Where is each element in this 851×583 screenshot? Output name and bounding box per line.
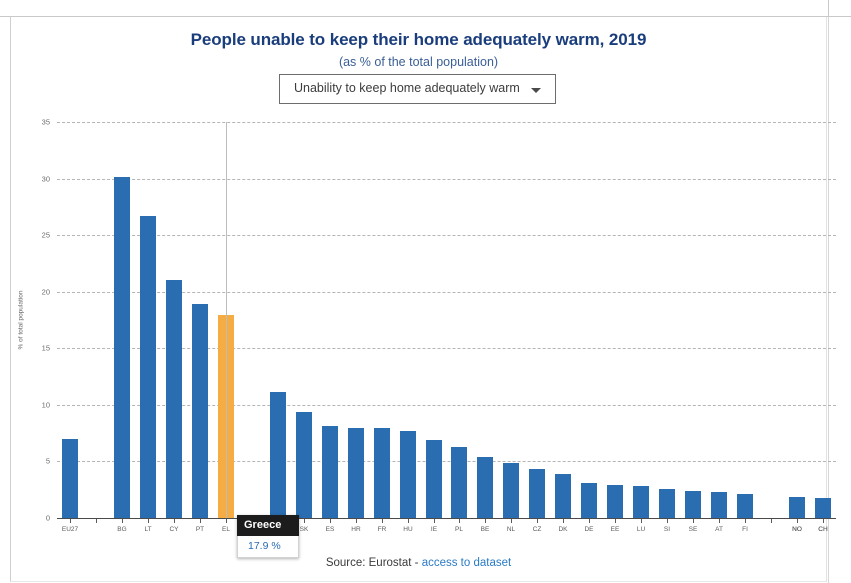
x-axis-tick-label: CZ (533, 526, 542, 533)
y-axis-tick-label: 30 (42, 174, 50, 183)
bar-lt[interactable] (140, 216, 156, 518)
source-prefix: Source: Eurostat - (326, 557, 422, 569)
x-axis-tick-label: DE (584, 526, 593, 533)
bar-dk[interactable] (555, 474, 571, 518)
gridline (57, 122, 836, 123)
x-axis-tick-label: SE (689, 526, 698, 533)
bar-bg[interactable] (114, 177, 130, 518)
x-axis-tick-label: NO (792, 526, 802, 533)
indicator-select[interactable]: Unability to keep home adequately warm (279, 74, 556, 104)
x-axis-tick-label: NL (507, 526, 515, 533)
x-axis-tick-label: AT (715, 526, 723, 533)
page-title: People unable to keep their home adequat… (11, 30, 826, 50)
x-axis-tick-label: ES (326, 526, 335, 533)
bar-at[interactable] (711, 492, 727, 518)
x-axis-tick-label: CY (169, 526, 178, 533)
x-axis-tick-label: EU27 (62, 526, 78, 533)
y-axis-tick-label: 0 (46, 514, 50, 523)
chart-tooltip: Greece 17.9 % (237, 515, 299, 558)
x-axis-tick-label: IE (431, 526, 437, 533)
x-axis-tick-label: PT (196, 526, 204, 533)
page-chrome-right-rule (828, 0, 829, 17)
x-axis-tick-label: LU (637, 526, 645, 533)
bar-pl[interactable] (451, 447, 467, 518)
bar-fi[interactable] (737, 494, 753, 518)
bar-ie[interactable] (426, 440, 442, 518)
bar-no[interactable] (789, 506, 805, 518)
bar-be[interactable] (477, 457, 493, 518)
gridline (57, 179, 836, 180)
indicator-select-value: Unability to keep home adequately warm (294, 81, 520, 95)
bar-chart-plot: % of total population 05101520253035 EU2… (57, 122, 836, 518)
tooltip-value: 17.9 % (237, 536, 299, 558)
bar-lu[interactable] (633, 486, 649, 518)
x-axis-tick-label: LT (144, 526, 151, 533)
bar-nl[interactable] (503, 463, 519, 518)
x-axis-tick-label: EL (222, 526, 230, 533)
chevron-down-icon (531, 88, 541, 93)
x-axis-tick-label: BE (481, 526, 490, 533)
y-axis-tick-label: 10 (42, 400, 50, 409)
bar-mt[interactable] (270, 392, 286, 518)
x-axis-tick-label: DK (558, 526, 567, 533)
y-axis-tick-label: 5 (46, 457, 50, 466)
x-axis-tick-label: BG (117, 526, 126, 533)
chart-widget: People unable to keep their home adequat… (10, 17, 827, 582)
x-axis-tick-label: HR (351, 526, 360, 533)
x-axis-tick-label: FI (742, 526, 748, 533)
bar-ee[interactable] (607, 485, 623, 518)
crosshair-line (226, 122, 227, 518)
bar-eu27[interactable] (62, 439, 78, 518)
bar-de[interactable] (581, 483, 597, 518)
bar-si[interactable] (659, 489, 675, 518)
x-axis-tick-label: PL (455, 526, 463, 533)
access-to-dataset-link[interactable]: access to dataset (422, 557, 512, 569)
x-axis-baseline (57, 518, 836, 519)
bar-es[interactable] (322, 426, 338, 518)
bar-se[interactable] (685, 491, 701, 518)
x-axis-tick-label: SK (300, 526, 309, 533)
bar-hr[interactable] (348, 428, 364, 519)
x-axis-tick-label: FR (378, 526, 387, 533)
bar-fr[interactable] (374, 428, 390, 519)
gridline (57, 235, 836, 236)
y-axis-tick-label: 25 (42, 231, 50, 240)
tooltip-country: Greece (237, 515, 299, 536)
x-axis-tick-label: SI (664, 526, 670, 533)
bar-cz[interactable] (529, 469, 545, 518)
x-axis-tick-label: EE (611, 526, 620, 533)
bar-hu[interactable] (400, 431, 416, 518)
y-axis-tick-label: 20 (42, 287, 50, 296)
chart-subtitle: (as % of the total population) (11, 55, 826, 69)
y-axis-tick-label: 15 (42, 344, 50, 353)
bar-cy[interactable] (166, 280, 182, 518)
x-axis-tick-label: CH (818, 526, 827, 533)
y-axis-tick-label: 35 (42, 118, 50, 127)
source-note: Source: Eurostat - access to dataset (11, 557, 826, 569)
bar-pt[interactable] (192, 304, 208, 518)
y-axis-label: % of total population (18, 291, 25, 350)
x-axis-tick-label: HU (403, 526, 412, 533)
bar-sk[interactable] (296, 412, 312, 518)
